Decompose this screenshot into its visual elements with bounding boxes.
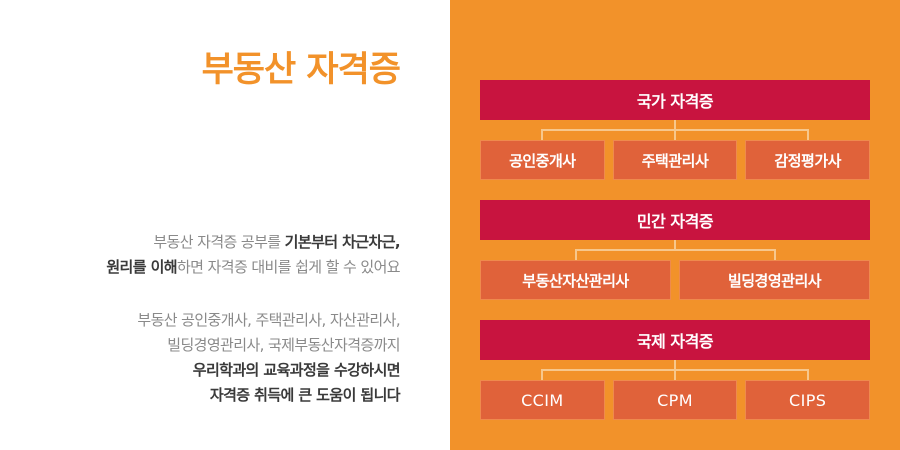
connector-drop <box>807 129 809 140</box>
intro-line-2-seg-1: 원리를 이해 <box>106 258 177 276</box>
certification-item[interactable]: 부동산자산관리사 <box>480 260 671 300</box>
certification-group: 국가 자격증공인중개사주택관리사감정평가사 <box>480 80 870 180</box>
left-text-panel: 부동산 자격증 부동산 자격증 공부를 기본부터 차근차근,원리를 이해하면 자… <box>0 0 450 450</box>
connector-drop <box>807 369 809 380</box>
certification-diagram-panel: 국가 자격증공인중개사주택관리사감정평가사민간 자격증부동산자산관리사빌딩경영관… <box>450 0 900 450</box>
connector-drop <box>674 369 676 380</box>
certification-group: 국제 자격증CCIMCPMCIPS <box>480 320 870 420</box>
intro-line-2-seg-2: 하면 자격증 대비를 쉽게 할 수 있어요 <box>177 258 400 276</box>
certification-item[interactable]: 공인중개사 <box>480 140 605 180</box>
connector-drop <box>541 369 543 380</box>
course-line-1: 부동산 공인중개사, 주택관리사, 자산관리사, <box>0 308 400 333</box>
connector-drop <box>575 249 577 260</box>
course-line-2-seg-1: 빌딩경영관리사, 국제부동산자격증까지 <box>167 336 400 354</box>
course-line-4: 자격증 취득에 큰 도움이 됩니다 <box>0 383 400 408</box>
page-title: 부동산 자격증 <box>0 48 400 92</box>
course-line-3-seg-1: 우리학과의 교육과정을 수강하시면 <box>193 361 400 379</box>
course-paragraph: 부동산 공인중개사, 주택관리사, 자산관리사,빌딩경영관리사, 국제부동산자격… <box>0 308 400 408</box>
connector-lines <box>480 120 870 140</box>
intro-line-1: 부동산 자격증 공부를 기본부터 차근차근, <box>0 230 400 255</box>
certification-children: 부동산자산관리사빌딩경영관리사 <box>480 260 870 300</box>
certification-tree: 국가 자격증공인중개사주택관리사감정평가사민간 자격증부동산자산관리사빌딩경영관… <box>480 80 870 420</box>
certification-group: 민간 자격증부동산자산관리사빌딩경영관리사 <box>480 200 870 300</box>
certification-item[interactable]: CCIM <box>480 380 605 420</box>
connector-drop <box>674 129 676 140</box>
certification-item[interactable]: CPM <box>613 380 738 420</box>
intro-paragraph: 부동산 자격증 공부를 기본부터 차근차근,원리를 이해하면 자격증 대비를 쉽… <box>0 230 400 280</box>
connector-drop <box>541 129 543 140</box>
group-header[interactable]: 국제 자격증 <box>480 320 870 360</box>
group-header[interactable]: 민간 자격증 <box>480 200 870 240</box>
promo-banner: 부동산 자격증 부동산 자격증 공부를 기본부터 차근차근,원리를 이해하면 자… <box>0 0 900 450</box>
certification-item[interactable]: CIPS <box>745 380 870 420</box>
certification-children: 공인중개사주택관리사감정평가사 <box>480 140 870 180</box>
certification-item[interactable]: 주택관리사 <box>613 140 738 180</box>
certification-children: CCIMCPMCIPS <box>480 380 870 420</box>
course-line-4-seg-1: 자격증 취득에 큰 도움이 됩니다 <box>210 386 400 404</box>
group-header[interactable]: 국가 자격증 <box>480 80 870 120</box>
connector-lines <box>480 360 870 380</box>
intro-line-2: 원리를 이해하면 자격증 대비를 쉽게 할 수 있어요 <box>0 255 400 280</box>
connector-lines <box>480 240 870 260</box>
course-line-2: 빌딩경영관리사, 국제부동산자격증까지 <box>0 333 400 358</box>
certification-item[interactable]: 감정평가사 <box>745 140 870 180</box>
intro-line-1-seg-1: 부동산 자격증 공부를 <box>153 233 284 251</box>
connector-rail <box>576 249 775 251</box>
course-line-3: 우리학과의 교육과정을 수강하시면 <box>0 358 400 383</box>
connector-drop <box>774 249 776 260</box>
course-line-1-seg-1: 부동산 공인중개사, 주택관리사, 자산관리사, <box>137 311 400 329</box>
intro-line-1-seg-2: 기본부터 차근차근, <box>285 233 400 251</box>
certification-item[interactable]: 빌딩경영관리사 <box>679 260 870 300</box>
